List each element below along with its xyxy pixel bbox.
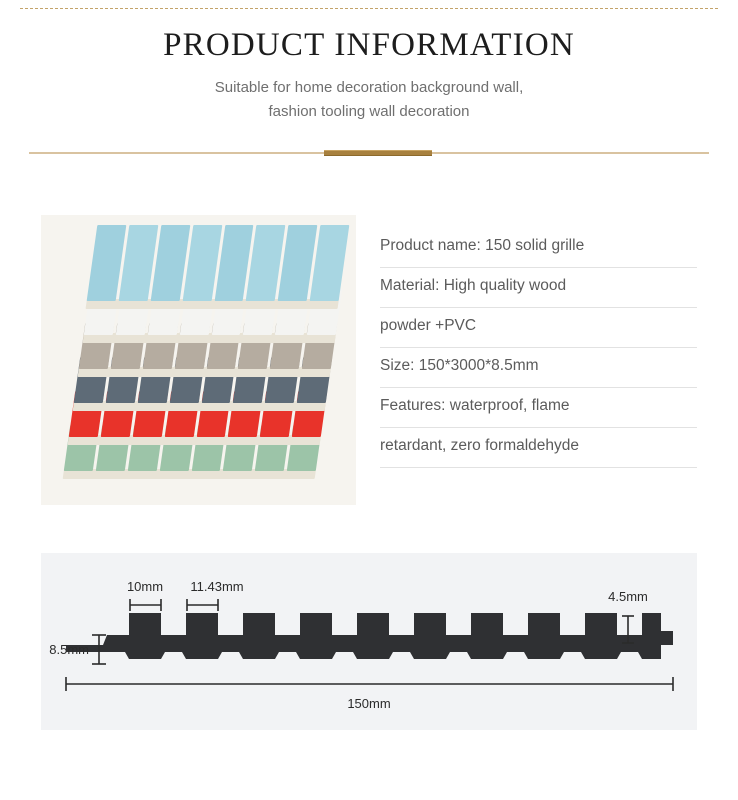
top-dashed-rule [20, 8, 718, 9]
rib-width-dimension [130, 599, 161, 611]
panel-stack-illustration [41, 215, 356, 505]
subtitle-line-2: fashion tooling wall decoration [0, 100, 738, 124]
ornamental-divider [29, 148, 709, 158]
spec-row: Features: waterproof, flame [380, 388, 697, 428]
page-title: PRODUCT INFORMATION [0, 24, 738, 66]
product-spec-list: Product name: 150 solid grille Material:… [380, 228, 697, 468]
divider-center-bar [324, 150, 432, 156]
panel-slats [87, 225, 350, 301]
total-width-dimension [66, 677, 673, 691]
page-header: PRODUCT INFORMATION Suitable for home de… [0, 24, 738, 124]
rib-width-label: 10mm [127, 579, 163, 594]
groove-depth-label: 4.5mm [608, 589, 648, 604]
page-subtitle: Suitable for home decoration background … [0, 76, 738, 124]
spec-row: powder +PVC [380, 308, 697, 348]
spec-row: Product name: 150 solid grille [380, 228, 697, 268]
cross-section-svg: 8.5mm 10mm 11.43mm 4.5mm 150mm [41, 553, 697, 730]
rib-pitch-dimension [187, 599, 218, 611]
total-width-label: 150mm [347, 696, 390, 711]
spec-row: Material: High quality wood [380, 268, 697, 308]
cross-section-diagram: 8.5mm 10mm 11.43mm 4.5mm 150mm [41, 553, 697, 730]
spec-row: Size: 150*3000*8.5mm [380, 348, 697, 388]
thickness-label: 8.5mm [49, 642, 89, 657]
panel-profile-shape [66, 613, 673, 659]
rib-pitch-label: 11.43mm [190, 579, 243, 594]
product-photo [41, 215, 356, 505]
panel-layer-light-blue [87, 225, 350, 301]
subtitle-line-1: Suitable for home decoration background … [0, 76, 738, 100]
spec-row: retardant, zero formaldehyde [380, 428, 697, 468]
